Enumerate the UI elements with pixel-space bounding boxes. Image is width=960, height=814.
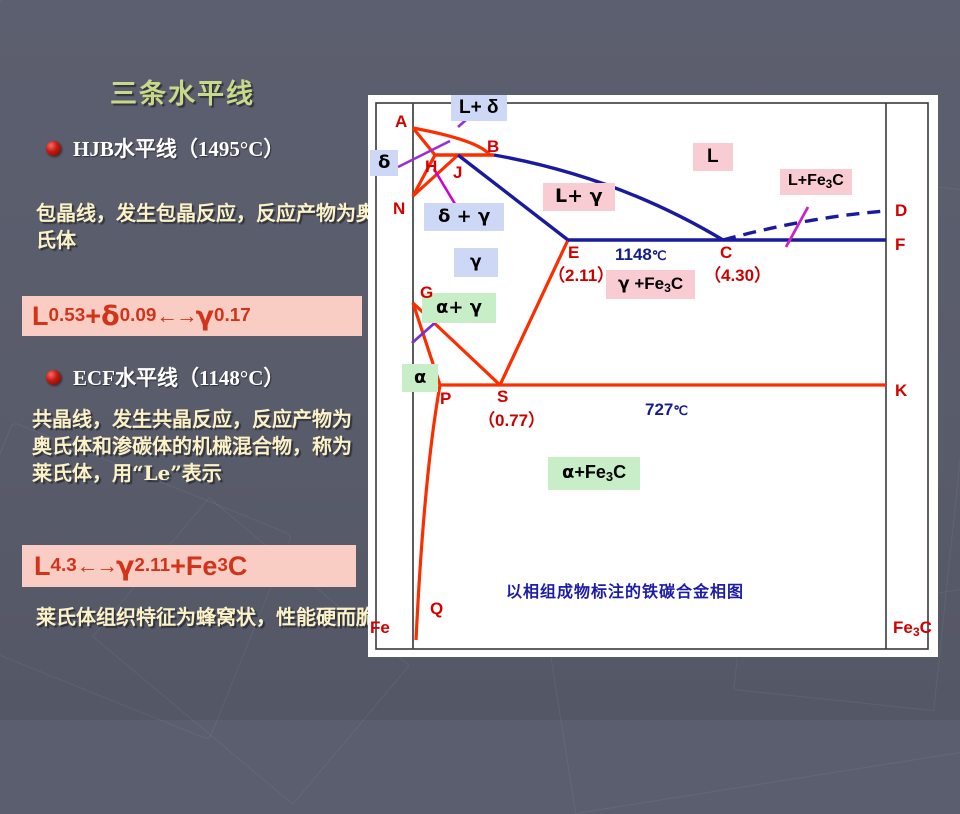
eq-term-gamma: γ bbox=[196, 301, 214, 332]
region-label-L-plus-gamma: L+ γ bbox=[543, 183, 615, 211]
point-label-C: C bbox=[720, 243, 732, 263]
region-label-alpha: α bbox=[402, 364, 438, 392]
eq-sub-017: 0.17 bbox=[214, 305, 251, 327]
point-label-F: F bbox=[895, 235, 905, 255]
eq-sub-43: 4.3 bbox=[51, 555, 77, 577]
equation-peritectic: L0.53+δ0.09←→γ0.17 bbox=[22, 296, 362, 336]
region-label-gamma: γ bbox=[454, 248, 498, 277]
point-label-J: J bbox=[453, 163, 462, 183]
eq-arrow: ←→ bbox=[77, 553, 116, 579]
phase-diagram-panel: L+ δ δ δ + γ γ L L+ γ L+Fe3C γ +Fe3C α+ … bbox=[368, 95, 938, 657]
concentration-S: （0.77） bbox=[478, 406, 545, 431]
eq-op-plus: + bbox=[85, 301, 101, 332]
bullet-item-hjb: HJB水平线（1495°C） bbox=[46, 133, 284, 163]
eq-arrow: ←→ bbox=[156, 303, 195, 329]
concentration-C: （4.30） bbox=[704, 261, 771, 286]
point-label-G: G bbox=[420, 283, 433, 303]
region-label-L-plus-Fe3C: L+Fe3C bbox=[780, 169, 852, 195]
eq-term-Fe: Fe bbox=[186, 551, 218, 582]
eq-sub-009: 0.09 bbox=[120, 305, 157, 327]
bullet-label: ECF水平线（1148°C） bbox=[73, 362, 284, 392]
axis-label-Fe: Fe bbox=[370, 618, 390, 638]
equation-eutectic: L 4.3←→γ 2.11+ Fe3C bbox=[22, 545, 356, 587]
point-label-K: K bbox=[895, 381, 907, 401]
point-label-E: E bbox=[568, 243, 579, 263]
paragraph-ledeburite: 莱氏体组织特征为蜂窝状，性能硬而脆 bbox=[36, 604, 376, 631]
paragraph-peritectic: 包晶线，发生包晶反应，反应产物为奥氏体 bbox=[36, 200, 376, 254]
slide-canvas: 三条水平线 HJB水平线（1495°C） 包晶线，发生包晶反应，反应产物为奥氏体… bbox=[0, 0, 960, 720]
bullet-item-ecf: ECF水平线（1148°C） bbox=[46, 362, 284, 392]
temperature-1148: 1148℃ bbox=[615, 245, 667, 265]
bullet-label: HJB水平线（1495°C） bbox=[73, 133, 284, 163]
slide-title: 三条水平线 bbox=[110, 72, 255, 111]
axis-label-Fe3C: Fe3C bbox=[893, 618, 932, 639]
temperature-727: 727℃ bbox=[645, 400, 688, 420]
region-label-L-plus-delta: L+ δ bbox=[451, 95, 507, 121]
diagram-caption: 以相组成物标注的铁碳合金相图 bbox=[506, 578, 744, 602]
region-label-L: L bbox=[693, 143, 733, 171]
concentration-E: （2.11） bbox=[548, 261, 614, 286]
region-label-delta: δ bbox=[370, 150, 398, 176]
point-label-H: H bbox=[425, 157, 437, 177]
region-label-gamma-Fe3C: γ +Fe3C bbox=[606, 270, 695, 299]
point-label-S: S bbox=[497, 387, 508, 407]
eq-sub-053: 0.53 bbox=[49, 305, 86, 327]
point-label-A: A bbox=[395, 112, 407, 132]
bullet-dot-icon bbox=[46, 370, 61, 385]
point-label-P: P bbox=[440, 389, 451, 409]
decorative-polygon bbox=[92, 497, 410, 805]
eq-sub-211: 2.11 bbox=[134, 555, 170, 577]
eq-term-gamma: γ bbox=[116, 551, 134, 582]
point-label-B: B bbox=[487, 137, 499, 157]
eq-op-plus: + bbox=[170, 551, 186, 582]
point-label-N: N bbox=[393, 199, 405, 219]
eq-sub-3: 3 bbox=[217, 555, 228, 577]
paragraph-eutectic: 共晶线，发生共晶反应，反应产物为奥氏体和渗碳体的机械混合物，称为莱氏体，用“Le… bbox=[32, 406, 368, 487]
point-label-Q: Q bbox=[430, 599, 443, 619]
region-label-alpha-Fe3C: α+Fe3C bbox=[548, 457, 640, 490]
eq-term-C: C bbox=[228, 551, 248, 582]
eq-term-delta: δ bbox=[101, 301, 120, 332]
eq-term-L: L bbox=[34, 551, 51, 582]
point-label-D: D bbox=[895, 201, 907, 221]
eq-term-L: L bbox=[32, 301, 49, 332]
region-label-delta-gamma: δ + γ bbox=[424, 203, 504, 231]
bullet-dot-icon bbox=[46, 141, 61, 156]
